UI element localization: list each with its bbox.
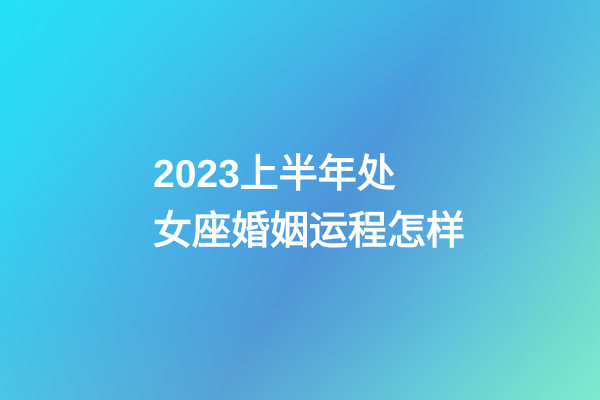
gradient-banner: 2023上半年处 女座婚姻运程怎样 [0, 0, 600, 400]
page-title-line-2: 女座婚姻运程怎样 [153, 203, 483, 260]
page-title-line-1: 2023上半年处 [153, 146, 483, 203]
page-title: 2023上半年处 女座婚姻运程怎样 [153, 146, 483, 260]
